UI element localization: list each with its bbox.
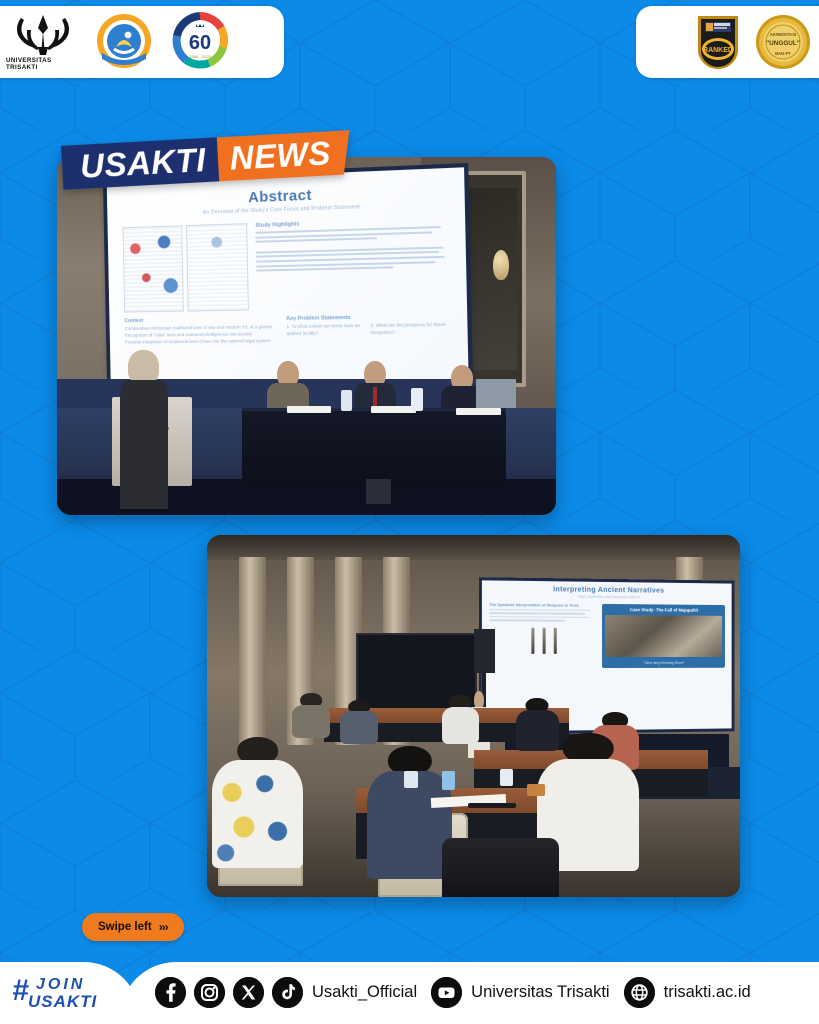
universitas-trisakti-logo: UNIVERSITAS TRISAKTI	[6, 13, 80, 71]
p1-slide-section-context: Context	[124, 316, 278, 324]
header-badge-bar-right: RANKED AKREDITASI "UNGGUL" BAN-PT	[636, 6, 819, 78]
p2-attendee-batik-outfit	[212, 760, 303, 868]
photo-2-scene: Interpreting Ancient Narratives Myth, Sy…	[207, 535, 740, 897]
p1-slide-context-col: Context Comparative Indonesian tradition…	[124, 316, 279, 346]
trisakti-trident-icon	[15, 14, 71, 56]
hashtag-icon: #	[12, 976, 29, 1006]
p2-coffee-cup	[527, 784, 546, 797]
website-url-label: trisakti.ac.id	[664, 983, 751, 1002]
p1-slide-textcol: Study Highlights	[255, 216, 450, 310]
p2-audience-area	[207, 687, 740, 897]
p1-slide-bullet: Possible integration of traditional laws…	[125, 338, 279, 346]
p1-laptop	[476, 379, 516, 408]
p2-kris-figure	[554, 627, 557, 653]
x-twitter-icon[interactable]	[233, 977, 264, 1008]
p2-slide-textline	[489, 609, 591, 611]
chevron-right-icon: ›››	[159, 920, 168, 934]
youtube-icon[interactable]	[431, 977, 462, 1008]
trisakti-logo-caption: UNIVERSITAS TRISAKTI	[6, 57, 80, 71]
tiktok-handle-label: Usakti_Official	[312, 983, 417, 1002]
p2-case-study-image	[606, 615, 722, 657]
p1-slide-question: 2. What are the prospects for future int…	[370, 322, 451, 337]
website-globe-icon[interactable]	[624, 977, 655, 1008]
p2-water-glass	[404, 771, 417, 788]
diktisaintek-berdampak-logo	[94, 11, 156, 73]
svg-text:60: 60	[189, 32, 211, 54]
p1-slide-question: 1. To what extent can these laws be appl…	[286, 323, 364, 338]
p2-smartphone	[468, 803, 516, 808]
footer-bar: # JOIN USAKTI Usakti_Official Universita…	[0, 958, 819, 1024]
p2-slide-body: The Symbolic Interpretation of Weapons i…	[482, 598, 731, 674]
p2-slide-left-heading: The Symbolic Interpretation of Weapons i…	[489, 603, 597, 608]
p2-slide-kris-illustrations	[489, 627, 597, 654]
p2-pa-speaker	[474, 629, 495, 672]
photo-panel-session[interactable]: Abstract An Overview of the Study's Core…	[57, 157, 556, 515]
p2-attendee-foreground	[367, 746, 452, 872]
p1-water-bottle	[341, 390, 352, 411]
p2-attendee-body	[340, 711, 377, 744]
p2-slide-case-study-card: Case Study: The Fall of Majapahit "Sirna…	[603, 604, 725, 668]
p2-slide-textline	[489, 616, 589, 618]
facebook-icon[interactable]	[155, 977, 186, 1008]
tiktok-icon[interactable]	[272, 977, 303, 1008]
p1-slide-section-problems: Key Problem Statements	[286, 313, 450, 321]
banner-usakti-text: USAKTI	[61, 137, 219, 189]
instagram-icon[interactable]	[194, 977, 225, 1008]
ranked-shield-icon: RANKED	[695, 13, 741, 71]
p2-slide-textline	[489, 619, 565, 621]
ranked-badge: RANKED	[695, 13, 741, 71]
p1-slide-thumb-cover	[122, 225, 184, 312]
p2-kris-figure	[542, 627, 545, 653]
p2-kris-figure	[531, 627, 534, 653]
p2-case-study-title: Case Study: The Fall of Majapahit	[606, 607, 722, 613]
anniversary-60-logo: 60 1965 - 2025	[170, 11, 232, 73]
p2-attendee	[442, 695, 479, 741]
p1-speaker-at-podium	[119, 350, 169, 508]
p1-slide-lower: Context Comparative Indonesian tradition…	[119, 313, 458, 346]
swipe-left-label: Swipe left	[98, 921, 152, 933]
p2-attendee-body	[442, 707, 479, 744]
p1-stage-monitor-speaker	[366, 479, 391, 504]
youtube-channel-label: Universitas Trisakti	[471, 983, 609, 1002]
p1-speaker-body	[120, 380, 168, 509]
join-logo-line1: JOIN	[36, 977, 114, 993]
join-usakti-logo: # JOIN USAKTI	[14, 972, 114, 1014]
header-logo-bar-left: UNIVERSITAS TRISAKTI 60 1965 - 2025	[0, 6, 284, 78]
p1-water-bottle	[411, 388, 423, 411]
p1-nameplate	[456, 408, 501, 415]
p1-wall-lamp	[493, 250, 509, 280]
p1-slide-thumbnails	[122, 223, 249, 312]
p2-water-glass	[500, 769, 513, 786]
p2-attendee-foreground	[212, 737, 303, 863]
svg-text:1965 - 2025: 1965 - 2025	[189, 54, 211, 59]
svg-text:BAN-PT: BAN-PT	[775, 51, 791, 56]
photo-1-scene: Abstract An Overview of the Study's Core…	[57, 157, 556, 515]
p1-slide-body: Study Highlights	[117, 216, 457, 312]
unggul-seal-icon: AKREDITASI "UNGGUL" BAN-PT	[755, 14, 811, 70]
p2-water-bottle	[442, 771, 455, 790]
svg-text:AKREDITASI: AKREDITASI	[770, 32, 797, 37]
p1-nameplate	[371, 406, 416, 413]
p2-attendee	[292, 693, 329, 735]
join-logo-line2: USAKTI	[28, 993, 114, 1010]
sixty-years-icon: 60 1965 - 2025	[170, 11, 230, 71]
social-links-row: Usakti_Official Universitas Trisakti tri…	[155, 968, 809, 1016]
p1-head-table	[242, 411, 506, 486]
p2-attendee-body	[292, 705, 329, 738]
p1-slide-textline	[256, 266, 394, 271]
swipe-left-button[interactable]: Swipe left ›››	[82, 913, 184, 941]
photo-audience-view[interactable]: Interpreting Ancient Narratives Myth, Sy…	[207, 535, 740, 897]
p2-attendee	[340, 700, 377, 742]
p2-chair-dark	[442, 838, 559, 897]
diktisaintek-icon	[94, 11, 154, 71]
banner-news-text: NEWS	[217, 130, 352, 181]
p2-slide-textline	[489, 613, 584, 615]
p2-case-study-caption: "Sirna Ilang Kertaning Bhumi"	[606, 661, 722, 665]
akreditasi-unggul-badge: AKREDITASI "UNGGUL" BAN-PT	[755, 14, 811, 70]
p1-slide-thumb-page	[186, 223, 249, 311]
p1-nameplate	[287, 406, 332, 413]
p1-slide-questions-col: Key Problem Statements 1. To what extent…	[286, 313, 451, 344]
ranked-badge-label: RANKED	[703, 47, 733, 54]
svg-text:"UNGGUL": "UNGGUL"	[766, 40, 800, 47]
p2-slide-left-col: The Symbolic Interpretation of Weapons i…	[489, 603, 597, 668]
